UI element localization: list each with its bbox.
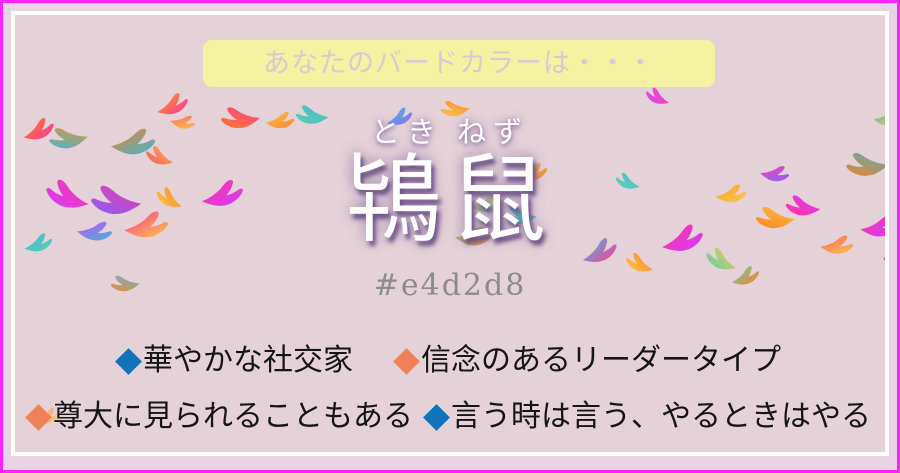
bird-icon xyxy=(153,87,191,120)
inner-frame: あなたのバードカラーは・・・ とき ねず 鴇鼠 #e4d2d8 華やかな社交家信… xyxy=(11,11,889,456)
trait-item: 言う時は言う、やるときはやる xyxy=(427,402,871,432)
trait-item: 尊大に見られることもある xyxy=(29,402,413,432)
trait-label: 信念のあるリーダータイプ xyxy=(421,346,781,376)
banner-label: あなたのバードカラーは・・・ xyxy=(263,50,655,77)
trait-label: 華やかな社交家 xyxy=(143,346,353,376)
header-banner: あなたのバードカラーは・・・ xyxy=(203,40,715,87)
trait-item: 信念のあるリーダータイプ xyxy=(397,346,781,376)
diamond-icon xyxy=(393,348,420,375)
trait-label: 尊大に見られることもある xyxy=(53,402,413,432)
hex-code-value: #e4d2d8 xyxy=(15,268,885,303)
color-name-kanji: 鴇鼠 xyxy=(15,151,885,252)
bird-color-result-card: あなたのバードカラーは・・・ とき ねず 鴇鼠 #e4d2d8 華やかな社交家信… xyxy=(0,0,900,473)
trait-list: 華やかな社交家信念のあるリーダータイプ尊大に見られることもある言う時は言う、やる… xyxy=(15,333,885,445)
diamond-icon xyxy=(423,404,450,431)
trait-row: 華やかな社交家信念のあるリーダータイプ xyxy=(15,333,885,389)
title-block: とき ねず 鴇鼠 xyxy=(15,119,885,252)
diamond-icon xyxy=(115,348,142,375)
trait-label: 言う時は言う、やるときはやる xyxy=(451,402,871,432)
diamond-icon xyxy=(25,404,52,431)
trait-row: 尊大に見られることもある言う時は言う、やるときはやる xyxy=(15,389,885,445)
trait-item: 華やかな社交家 xyxy=(119,346,353,376)
furigana-reading: とき ねず xyxy=(15,119,885,148)
